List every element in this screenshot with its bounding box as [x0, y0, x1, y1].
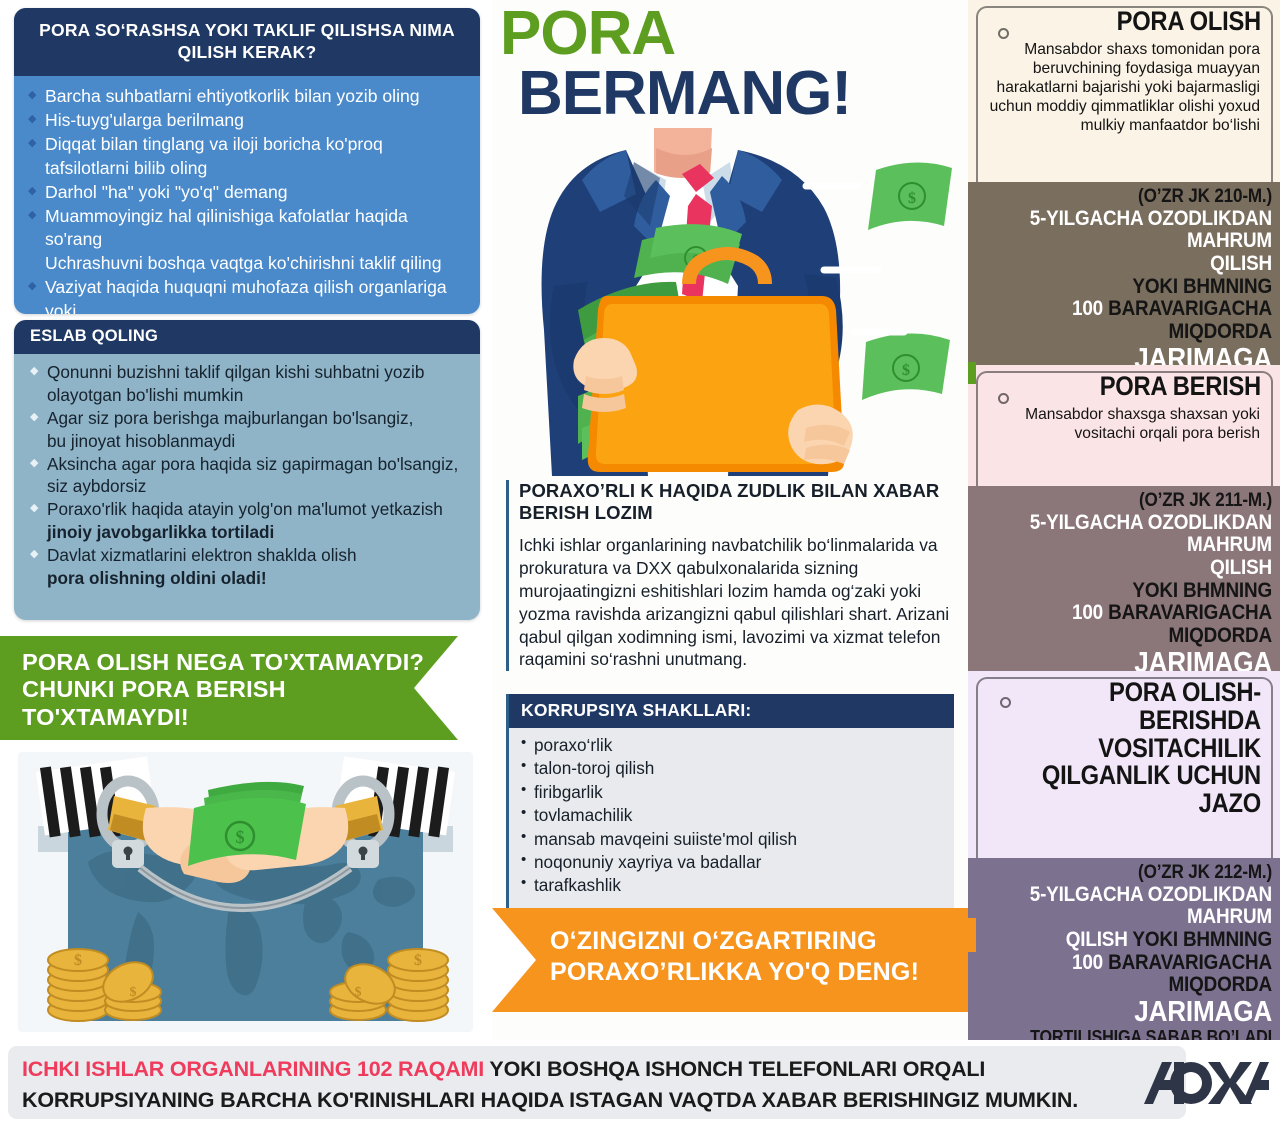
svg-text:$: $	[130, 985, 137, 1000]
green-accent-tab	[968, 362, 976, 384]
advice-card: PORA SO‘RASHSA YOKI TAKLIF QILISHSA NIMA…	[14, 8, 480, 314]
penalty-card-vositachilik: PORA OLISH- BERISHDA VOSITACHILIK QILGAN…	[968, 671, 1280, 1040]
footer-text: ICHKI ISHLAR ORGANLARINING 102 RAQAMI YO…	[22, 1054, 1152, 1115]
title-line: VOSITACHILIK	[1015, 735, 1261, 763]
list-item: Poraxo'rlik haqida atayin yolg'on ma'lum…	[30, 498, 466, 521]
report-lead-block: PORAXO’RLI K HAQIDA ZUDLIK BILAN XABAR B…	[506, 480, 954, 671]
list-item: talon-toroj qilish	[521, 757, 942, 780]
list-item-continuation: pora olishning oldini oladi!	[30, 567, 466, 590]
green-ribbon-line-1: PORA OLISH NEGA TO'XTAMAYDI?	[22, 649, 458, 676]
title-line: PORA OLISH-	[1015, 679, 1261, 707]
green-ribbon-text: PORA OLISH NEGA TO'XTAMAYDI? CHUNKI PORA…	[0, 636, 458, 731]
svg-text:$: $	[355, 985, 362, 1000]
svg-text:$: $	[236, 827, 245, 847]
article-reference: (O’ZR JK 212-M.)	[1006, 863, 1272, 884]
footer-bar: ICHKI ISHLAR ORGANLARINING 102 RAQAMI YO…	[0, 1042, 1280, 1125]
corruption-forms-list: poraxo‘rlik talon-toroj qilish firibgarl…	[509, 728, 954, 908]
penalty-card-description: Mansabdor shaxsga shaxsan yoki vositachi…	[980, 401, 1268, 451]
businessman-illustration-svg: $ $ $ $	[506, 128, 958, 476]
title-line-pora: PORA	[500, 4, 968, 64]
list-item: Davlat xizmatlarini elektron shaklda oli…	[30, 544, 466, 567]
list-item: Diqqat bilan tinglang va iloji boricha k…	[28, 133, 466, 156]
orange-ribbon-banner: O‘ZINGIZNI O‘ZGARTIRING PORAXO’RLIKKA YO…	[492, 908, 970, 1012]
aoka-logo-svg	[1142, 1056, 1270, 1110]
title-line: PORA OLISH	[1015, 8, 1261, 36]
orange-ribbon-line-1: O‘ZINGIZNI O‘ZGARTIRING	[550, 926, 970, 957]
penalty-line: 100 BARAVARIGACHA MIQDORDA	[1006, 952, 1272, 997]
orange-ribbon-text: O‘ZINGIZNI O‘ZGARTIRING PORAXO’RLIKKA YO…	[492, 908, 970, 987]
penalty-amount-suffix: BARAVARIGACHA MIQDORDA	[1103, 601, 1272, 647]
advice-card-body: Barcha suhbatlarni ehtiyotkorlik bilan y…	[14, 76, 480, 314]
title-line: PORA BERISH	[1015, 373, 1261, 401]
list-item: tovlamachilik	[521, 804, 942, 827]
list-item: Vaziyat haqida huquqni muhofaza qilish o…	[28, 276, 466, 314]
list-item: noqonuniy xayriya va badallar	[521, 851, 942, 874]
list-item-continuation: tafsilotlarni bilib oling	[28, 157, 466, 180]
penalty-card-title: PORA OLISH- BERISHDA VOSITACHILIK QILGAN…	[1015, 679, 1268, 818]
handcuffs-bribe-illustration: $ $ $	[18, 752, 473, 1032]
list-item: His-tuyg'ularga berilmang	[28, 109, 466, 132]
penalty-prefix: QILISH	[1066, 928, 1128, 951]
penalty-amount-suffix: BARAVARIGACHA MIQDORDA	[1103, 951, 1272, 997]
handcuffs-illustration-svg: $ $ $	[18, 752, 473, 1032]
penalty-line: 5-YILGACHA OZODLIKDAN MAHRUM	[1006, 512, 1272, 557]
penalty-card-pora-olish: PORA OLISH Mansabdor shaxs tomonidan por…	[968, 0, 1280, 365]
svg-text:$: $	[414, 952, 422, 969]
emphasis-text: pora olishning oldini oladi!	[47, 568, 267, 588]
penalty-line: 100 BARAVARIGACHA MIQDORDA	[1006, 602, 1272, 647]
page-title: PORA BERMANG!	[500, 4, 968, 124]
footer-line2: KORRUPSIYANING BARCHA KO'RINISHLARI HAQI…	[22, 1088, 1078, 1112]
list-item-continuation: olayotgan bo'lishi mumkin	[30, 384, 466, 407]
title-line-bermang: BERMANG!	[500, 64, 968, 125]
left-column: PORA SO‘RASHSA YOKI TAKLIF QILISHSA NIMA…	[0, 0, 492, 1040]
remember-card-header: ESLAB QOLING	[14, 320, 480, 354]
infographic-page: PORA SO‘RASHSA YOKI TAKLIF QILISHSA NIMA…	[0, 0, 1280, 1125]
list-item: Muammoyingiz hal qilinishiga kafolatlar …	[28, 205, 466, 252]
penalty-card-sentence: (O’ZR JK 212-M.) 5-YILGACHA OZODLIKDAN M…	[968, 858, 1280, 1040]
orange-ribbon-line-2: PORAXO’RLIKKA YO'Q DENG!	[550, 957, 970, 988]
advice-list: Barcha suhbatlarni ehtiyotkorlik bilan y…	[28, 85, 466, 314]
report-body: Ichki ishlar organlarining navbatchilik …	[519, 534, 954, 671]
footer-hotline-highlight: ICHKI ISHLAR ORGANLARINING 102 RAQAMI	[22, 1057, 484, 1081]
list-item: Agar siz pora berishga majburlangan bo'l…	[30, 407, 466, 430]
penalty-card-sentence: (O’ZR JK 211-M.) 5-YILGACHA OZODLIKDAN M…	[968, 486, 1280, 671]
penalty-card-head: PORA OLISH Mansabdor shaxs tomonidan por…	[968, 0, 1280, 182]
penalty-card-description: Mansabdor shaxs tomonidan pora beruvchin…	[980, 36, 1268, 144]
remember-card: ESLAB QOLING Qonunni buzishni taklif qil…	[14, 320, 480, 620]
penalty-suffix: YOKI BHMNING	[1128, 928, 1272, 951]
list-item-continuation: siz aybdorsiz	[30, 475, 466, 498]
penalty-line: 5-YILGACHA OZODLIKDAN MAHRUM	[1006, 884, 1272, 929]
green-ribbon-line-3: TO'XTAMAYDI!	[22, 704, 458, 731]
penalty-line: QILISH YOKI BHMNING	[1006, 929, 1272, 952]
penalty-line: YOKI BHMNING	[1006, 580, 1272, 603]
penalty-line-fine: JARIMAGA	[1006, 648, 1272, 671]
report-heading: PORAXO’RLI K HAQIDA ZUDLIK BILAN XABAR B…	[519, 480, 954, 524]
penalty-amount: 100	[1072, 297, 1103, 320]
penalty-card-pora-berish: PORA BERISH Mansabdor shaxsga shaxsan yo…	[968, 365, 1280, 671]
flying-money-lower-right: $	[862, 333, 950, 400]
penalty-line: QILISH	[1006, 557, 1272, 580]
corruption-forms-card: KORRUPSIYA SHAKLLARI: poraxo‘rlik talon-…	[506, 694, 954, 908]
orange-accent-tab	[968, 918, 976, 952]
penalty-card-sentence: (O’ZR JK 210-M.) 5-YILGACHA OZODLIKDAN M…	[968, 182, 1280, 365]
green-ribbon-banner: PORA OLISH NEGA TO'XTAMAYDI? CHUNKI PORA…	[0, 636, 458, 740]
list-item-continuation: jinoiy javobgarlikka tortiladi	[30, 521, 466, 544]
corruption-forms-header: KORRUPSIYA SHAKLLARI:	[509, 694, 954, 728]
list-item: Barcha suhbatlarni ehtiyotkorlik bilan y…	[28, 85, 466, 108]
list-item: tarafkashlik	[521, 874, 942, 897]
flying-money-upper-right: $	[868, 162, 952, 230]
list-item: Qonunni buzishni taklif qilgan kishi suh…	[30, 361, 466, 384]
penalty-amount-suffix: BARAVARIGACHA MIQDORDA	[1103, 297, 1272, 343]
article-reference: (O’ZR JK 210-M.)	[1006, 187, 1272, 208]
penalty-amount: 100	[1072, 601, 1103, 624]
penalty-line-fine: JARIMAGA	[1006, 344, 1272, 365]
list-item: poraxo‘rlik	[521, 734, 942, 757]
remember-list: Qonunni buzishni taklif qilgan kishi suh…	[30, 361, 466, 590]
advice-card-header: PORA SO‘RASHSA YOKI TAKLIF QILISHSA NIMA…	[14, 8, 480, 76]
emphasis-text: jinoiy javobgarlikka tortiladi	[47, 522, 274, 542]
penalty-line: TORTILISHIGA SABAB BO’LADI	[1006, 1028, 1272, 1040]
penalty-line: QILISH	[1006, 253, 1272, 276]
penalty-card-head: PORA OLISH- BERISHDA VOSITACHILIK QILGAN…	[968, 671, 1280, 858]
article-reference: (O’ZR JK 211-M.)	[1006, 491, 1272, 512]
center-column: PORA BERMANG!	[492, 0, 968, 1040]
penalty-card-title: PORA BERISH	[1015, 373, 1268, 401]
list-item: Aksincha agar pora haqida siz gapirmagan…	[30, 453, 466, 476]
list-item-continuation: bu jinoyat hisoblanmaydi	[30, 430, 466, 453]
penalty-line: 5-YILGACHA OZODLIKDAN MAHRUM	[1006, 208, 1272, 253]
green-ribbon-line-2: CHUNKI PORA BERISH	[22, 676, 458, 703]
list-item: mansab mavqeini suiiste'mol qilish	[521, 828, 942, 851]
title-line: BERISHDA	[1015, 707, 1261, 735]
penalty-card-title: PORA OLISH	[1015, 8, 1268, 36]
list-item: firibgarlik	[521, 781, 942, 804]
penalty-card-head: PORA BERISH Mansabdor shaxsga shaxsan yo…	[968, 365, 1280, 486]
list-item-continuation: Uchrashuvni boshqa vaqtga ko'chirishni t…	[28, 252, 466, 275]
aoka-logo	[1142, 1056, 1270, 1110]
bracket-dot-icon	[1000, 697, 1011, 708]
penalty-line: YOKI BHMNING	[1006, 276, 1272, 299]
svg-text:$: $	[908, 190, 916, 207]
businessman-briefcase-illustration: $ $ $ $	[506, 128, 958, 476]
svg-text:$: $	[74, 952, 82, 969]
right-column: PORA OLISH Mansabdor shaxs tomonidan por…	[968, 0, 1280, 1040]
list-item: Darhol "ha" yoki "yo'q" demang	[28, 181, 466, 204]
penalty-line-fine: JARIMAGA	[1006, 997, 1272, 1028]
footer-rest-line1: YOKI BOSHQA ISHONCH TELEFONLARI ORQALI	[484, 1057, 985, 1081]
title-line: QILGANLIK UCHUN JAZO	[1015, 762, 1261, 818]
penalty-amount: 100	[1072, 951, 1103, 974]
remember-card-body: Qonunni buzishni taklif qilgan kishi suh…	[14, 354, 480, 598]
svg-text:$: $	[902, 362, 910, 379]
penalty-line: 100 BARAVARIGACHA MIQDORDA	[1006, 298, 1272, 343]
